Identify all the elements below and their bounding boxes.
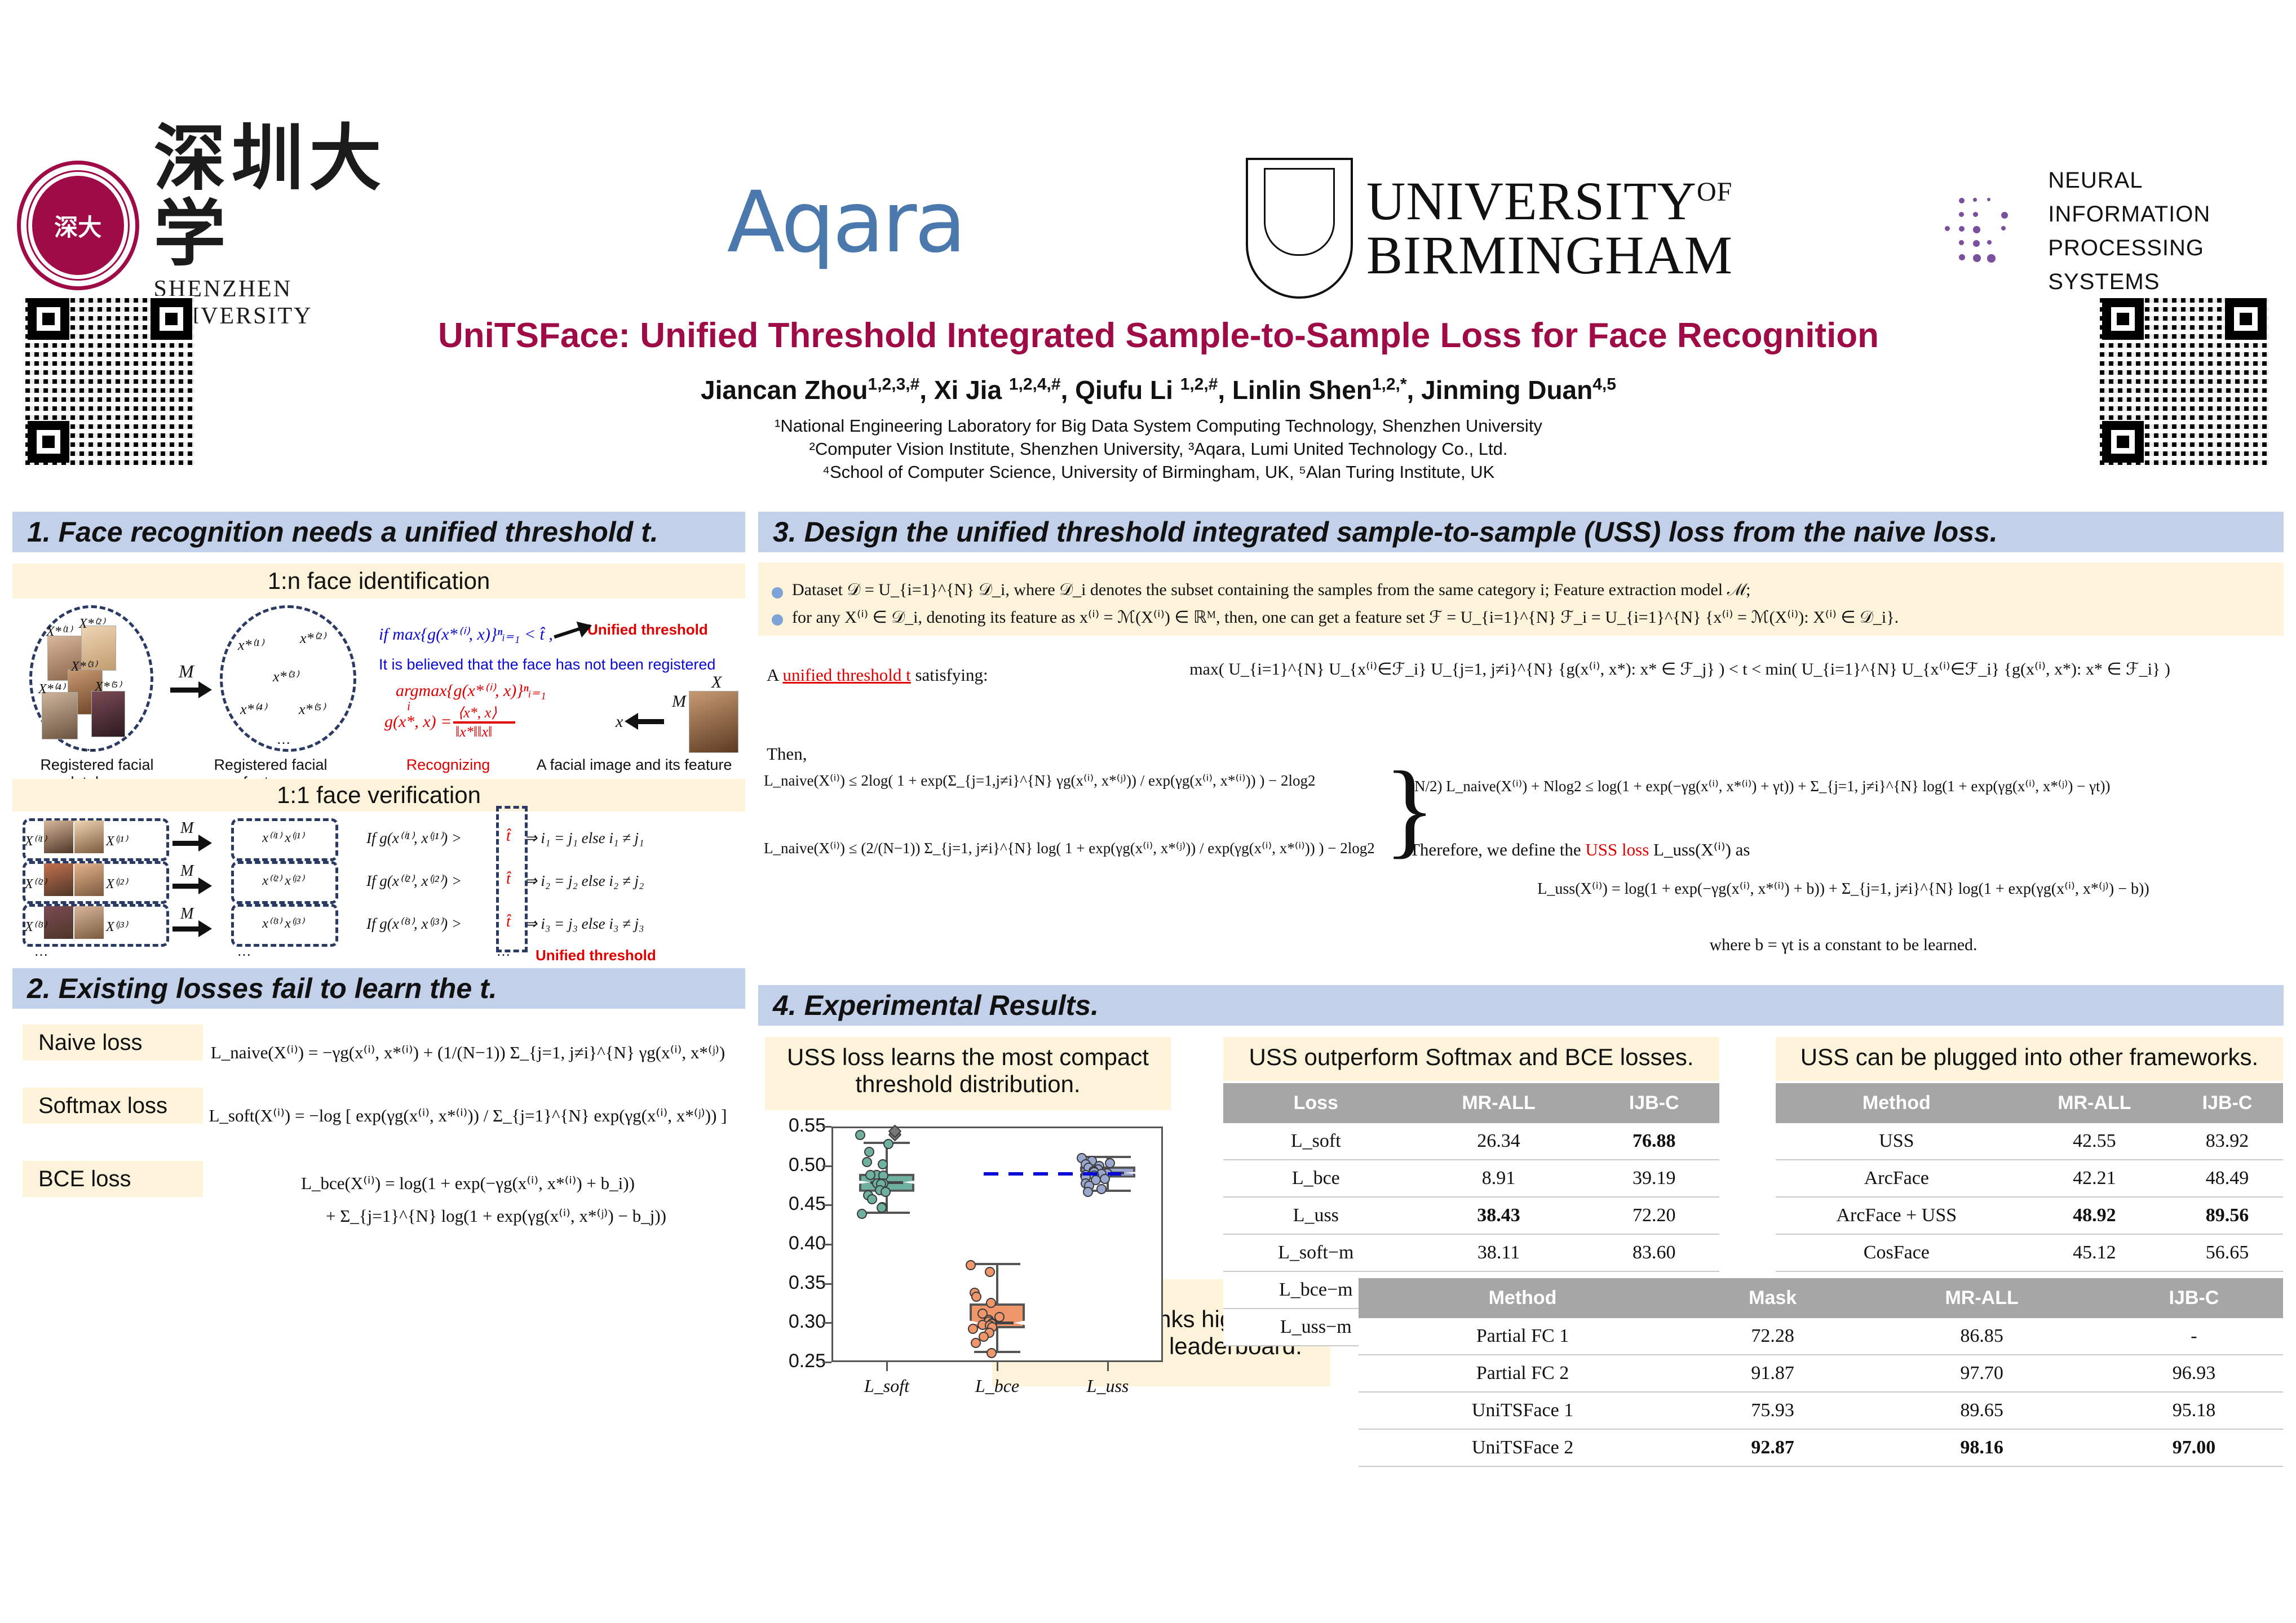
db-ellipsis: … <box>81 737 96 755</box>
table-cell: 26.34 <box>1409 1123 1589 1160</box>
feat-label-3: x*⁽³⁾ <box>273 668 298 685</box>
naive-upper-bound-2: L_naive(X⁽ⁱ⁾) ≤ (2/(N−1)) Σ_{j=1, j≠i}^{… <box>764 840 1384 857</box>
table-row: Partial FC 172.2886.85- <box>1359 1318 2283 1355</box>
arrow-left-icon <box>637 719 664 724</box>
table-cell: 39.19 <box>1589 1160 1719 1197</box>
column-header: MR-ALL <box>2018 1083 2171 1123</box>
results-table-leaderboard: MethodMaskMR-ALLIJB-CPartial FC 172.2886… <box>1359 1278 2283 1467</box>
assumption-bullet-1-text: Dataset 𝒟 = U_{i=1}^{N} 𝒟_i, where 𝒟_i d… <box>792 580 1751 600</box>
column-header: IJB-C <box>2171 1083 2283 1123</box>
data-point <box>1083 1187 1093 1197</box>
author-list: Jiancan Zhou1,2,3,#, Xi Jia 1,2,4,#, Qiu… <box>237 375 2080 405</box>
table-row: CosFace45.1256.65 <box>1776 1234 2283 1271</box>
table-cell: 91.87 <box>1687 1355 1859 1392</box>
face-thumb <box>74 906 104 939</box>
section-1-subtitle-identification: 1:n face identification <box>12 564 745 598</box>
affiliation-line-3: ⁴School of Computer Science, University … <box>237 460 2080 484</box>
verification-rule-suffix: ⇒ i₃ = j₃ else i₃ ≠ j₃ <box>524 915 644 933</box>
affiliations: ¹National Engineering Laboratory for Big… <box>237 414 2080 484</box>
page-title: UniTSFace: Unified Threshold Integrated … <box>237 316 2080 356</box>
naive-loss-formula: L_naive(X⁽ⁱ⁾) = −γg(x⁽ⁱ⁾, x*⁽ⁱ⁾) + (1/(N… <box>203 1043 733 1063</box>
table-cell: Partial FC 1 <box>1359 1318 1687 1355</box>
assumption-bullet-1: Dataset 𝒟 = U_{i=1}^{N} 𝒟_i, where 𝒟_i d… <box>772 580 2270 600</box>
table-cell: L_soft−m <box>1223 1234 1409 1271</box>
threshold-highlight-box <box>496 806 528 952</box>
arrow-right-icon <box>172 884 200 889</box>
arrow-right-icon <box>170 688 200 693</box>
assumption-bullet-2: for any X⁽ⁱ⁾ ∈ 𝒟_i, denoting its feature… <box>772 607 2270 627</box>
table-row: ArcFace + USS48.9289.56 <box>1776 1197 2283 1234</box>
table-header-row: MethodMR-ALLIJB-C <box>1776 1083 2283 1123</box>
verification-pair-label-left: X⁽ⁱ²⁾ <box>25 876 46 892</box>
arrow-right-icon <box>172 926 200 932</box>
db-label-2: X*⁽²⁾ <box>79 615 105 632</box>
neurips-line1: NEURAL INFORMATION <box>2048 163 2289 231</box>
face-thumb <box>42 692 78 739</box>
g-definition-lhs: g(x*, x) = <box>384 712 452 731</box>
table-row: UniTSFace 175.9389.6595.18 <box>1359 1392 2283 1429</box>
arrow-right-icon <box>172 841 200 846</box>
aqara-wordmark: Aqara <box>727 174 965 272</box>
note-table2: USS can be plugged into other frameworks… <box>1776 1037 2283 1081</box>
note-table1: USS outperform Softmax and BCE losses. <box>1223 1037 1719 1081</box>
note-chart: USS loss learns the most compact thresho… <box>765 1037 1171 1110</box>
uob-line2: BIRMINGHAM <box>1366 228 1733 282</box>
table-cell: 89.56 <box>2171 1197 2283 1234</box>
model-symbol: M <box>180 862 193 880</box>
verification-pair-label-right: X⁽ʲ¹⁾ <box>106 833 127 849</box>
x-axis-tick-label: L_soft <box>836 1376 937 1396</box>
model-symbol-1: M <box>179 661 194 682</box>
table-cell: 48.92 <box>2018 1197 2171 1234</box>
db-label-1: X*⁽¹⁾ <box>46 623 72 640</box>
column-header: Mask <box>1687 1278 1859 1318</box>
verification-rule-prefix: If g(x⁽ⁱ¹⁾, x⁽ʲ¹⁾) > <box>366 830 462 847</box>
section-1-subtitle-verification: 1:1 face verification <box>12 779 745 812</box>
table-cell: 48.49 <box>2171 1160 2283 1197</box>
db-label-3: X*⁽³⁾ <box>71 658 97 675</box>
table-cell: 95.18 <box>2105 1392 2283 1429</box>
data-point <box>971 1338 981 1348</box>
table-row: ArcFace42.2148.49 <box>1776 1160 2283 1197</box>
x-axis-tick <box>1107 1362 1109 1371</box>
identification-diagram: X*⁽¹⁾ X*⁽²⁾ X*⁽³⁾ X*⁽⁴⁾ X*⁽⁵⁾ … M x*⁽¹⁾ … <box>12 602 745 754</box>
table-cell: L_bce <box>1223 1160 1409 1197</box>
g-definition-denominator: ‖x*‖‖x‖ <box>455 724 492 740</box>
threshold-lead-c: satisfying: <box>911 665 988 685</box>
bullet-dot-icon <box>772 614 783 626</box>
table-cell: 92.87 <box>1687 1429 1859 1466</box>
table-row: L_uss38.4372.20 <box>1223 1197 1719 1234</box>
face-thumb <box>74 863 104 896</box>
uss-constant-note: where b = γt is a constant to be learned… <box>1398 935 2289 955</box>
y-axis-tick-label: 0.45 <box>758 1193 826 1215</box>
model-symbol: M <box>180 905 193 923</box>
softmax-loss-label: Softmax loss <box>23 1088 203 1124</box>
section-3-assumptions-box: Dataset 𝒟 = U_{i=1}^{N} 𝒟_i, where 𝒟_i d… <box>758 562 2284 636</box>
neurips-line2: PROCESSING SYSTEMS <box>2048 231 2289 299</box>
threshold-lead-highlight: unified threshold t <box>782 665 910 685</box>
table-cell: Partial FC 2 <box>1359 1355 1687 1392</box>
table-cell: USS <box>1776 1123 2018 1160</box>
neurips-dot-pattern-icon <box>1939 166 2038 296</box>
y-axis-tick-label: 0.40 <box>758 1232 826 1254</box>
therefore-a: Therefore, we define the <box>1409 840 1585 859</box>
verif-ellipsis-3: … <box>496 942 511 960</box>
whisker-cap <box>974 1351 1020 1353</box>
annotation-arrow-icon <box>554 627 581 639</box>
uob-crest-icon <box>1246 158 1353 299</box>
data-point <box>867 1194 877 1204</box>
verification-pair-label-right: X⁽ʲ²⁾ <box>106 876 127 892</box>
y-axis-tick-label: 0.55 <box>758 1115 826 1137</box>
argmax-subscript: i <box>407 699 410 713</box>
table-cell: - <box>2105 1318 2283 1355</box>
table-row: L_soft−m38.1183.60 <box>1223 1234 1719 1271</box>
table-cell: 83.92 <box>2171 1123 2283 1160</box>
verif-ellipsis-1: … <box>34 942 48 960</box>
threshold-lead-in: A unified threshold t satisfying: <box>767 665 988 685</box>
therefore-lead-in: Therefore, we define the USS loss L_uss(… <box>1409 840 1750 860</box>
table-cell: 98.16 <box>1859 1429 2105 1466</box>
caption-recognizing: Recognizing <box>378 756 519 774</box>
table-cell: 42.21 <box>2018 1160 2171 1197</box>
table-cell: 72.20 <box>1589 1197 1719 1234</box>
naive-loss-label: Naive loss <box>23 1025 203 1061</box>
if-max-formula: if max{g(x*⁽ⁱ⁾, x)}ⁿᵢ₌₁ < t̂ , <box>379 624 553 644</box>
data-point <box>986 1348 997 1358</box>
combined-inequality: (N/2) L_naive(X⁽ⁱ⁾) + Nlog2 ≤ log(1 + ex… <box>1409 778 2289 795</box>
caption-facial-image: A facial image and its feature <box>524 756 744 774</box>
column-header: Method <box>1776 1083 2018 1123</box>
db-label-4: X*⁽⁴⁾ <box>38 681 65 697</box>
verification-pair-label-left: X⁽ⁱ¹⁾ <box>25 833 46 849</box>
x-feature-symbol: x <box>616 712 623 731</box>
not-registered-note: It is believed that the face has not bee… <box>379 656 715 673</box>
logo-university-of-birmingham: UNIVERSITYOF BIRMINGHAM <box>1246 158 1810 299</box>
data-point <box>855 1130 865 1140</box>
y-axis-tick-label: 0.25 <box>758 1350 826 1372</box>
table-cell: 42.55 <box>2018 1123 2171 1160</box>
table-cell: 89.65 <box>1859 1392 2105 1429</box>
table-row: L_soft26.3476.88 <box>1223 1123 1719 1160</box>
bullet-dot-icon <box>772 587 783 598</box>
bce-loss-formula-line1: L_bce(X⁽ⁱ⁾) = log(1 + exp(−γg(x⁽ⁱ⁾, x*⁽ⁱ… <box>203 1173 733 1194</box>
y-axis-tick-label: 0.35 <box>758 1272 826 1294</box>
table-row: USS42.5583.92 <box>1776 1123 2283 1160</box>
x-axis-tick <box>997 1362 998 1371</box>
verification-feature-label: x⁽ⁱ¹⁾ x⁽ʲ¹⁾ <box>238 830 328 846</box>
feat-label-2: x*⁽²⁾ <box>300 630 325 647</box>
logo-shenzhen-university: 深大 深圳大学 SHENZHEN UNIVERSITY <box>17 152 445 299</box>
reference-line <box>984 1172 1121 1176</box>
table-cell: 83.60 <box>1589 1234 1719 1271</box>
data-point <box>971 1292 981 1302</box>
table-row: UniTSFace 292.8798.1697.00 <box>1359 1429 2283 1466</box>
logo-aqara: Aqara <box>665 169 1026 276</box>
verification-rule-prefix: If g(x⁽ⁱ²⁾, x⁽ʲ²⁾) > <box>366 872 462 890</box>
verif-ellipsis-2: … <box>237 942 251 960</box>
table-cell: 97.70 <box>1859 1355 2105 1392</box>
data-point <box>862 1157 872 1167</box>
table-cell: 96.93 <box>2105 1355 2283 1392</box>
column-header: MR-ALL <box>1859 1278 2105 1318</box>
y-axis-tick <box>822 1362 831 1363</box>
table-cell: 38.11 <box>1409 1234 1589 1271</box>
verification-feature-label: x⁽ⁱ³⁾ x⁽ʲ³⁾ <box>238 915 328 932</box>
feat-label-1: x*⁽¹⁾ <box>238 637 263 654</box>
therefore-c: L_uss(X⁽ⁱ⁾) as <box>1649 840 1750 859</box>
threshold-inequality-formula: max( U_{i=1}^{N} U_{x⁽ⁱ⁾∈ℱ_i} U_{j=1, j≠… <box>1099 659 2260 679</box>
model-symbol-2: M <box>672 692 686 711</box>
argmax-formula: argmax{g(x*⁽ⁱ⁾, x)}ⁿᵢ₌₁ <box>396 681 546 700</box>
table-cell: 45.12 <box>2018 1234 2171 1271</box>
table-cell: ArcFace + USS <box>1776 1197 2018 1234</box>
face-thumb <box>74 821 104 853</box>
poster-root: 深大 深圳大学 SHENZHEN UNIVERSITY Aqara UNIVER… <box>0 0 2296 1623</box>
uob-of: OF <box>1697 177 1732 207</box>
affiliation-line-2: ²Computer Vision Institute, Shenzhen Uni… <box>237 437 2080 460</box>
feat-ellipsis: … <box>276 730 291 748</box>
verification-rule-suffix: ⇒ i₂ = j₂ else i₂ ≠ j₂ <box>524 872 644 890</box>
data-point <box>1105 1158 1115 1168</box>
szu-seal-text: 深大 <box>21 165 135 286</box>
affiliation-line-1: ¹National Engineering Laboratory for Big… <box>237 414 2080 437</box>
db-label-5: X*⁽⁵⁾ <box>95 679 121 695</box>
table-cell: L_soft <box>1223 1123 1409 1160</box>
feat-label-4: x*⁽⁴⁾ <box>240 701 266 718</box>
y-axis-tick-label: 0.30 <box>758 1311 826 1333</box>
table-cell: 76.88 <box>1589 1123 1719 1160</box>
table-cell: 97.00 <box>2105 1429 2283 1466</box>
feat-label-5: x*⁽⁵⁾ <box>299 701 325 718</box>
x-axis-tick <box>886 1362 888 1371</box>
table-cell: CosFace <box>1776 1234 2018 1271</box>
naive-upper-bound-1: L_naive(X⁽ⁱ⁾) ≤ 2log( 1 + exp(Σ_{j=1,j≠i… <box>764 772 1384 790</box>
data-point <box>881 1187 891 1197</box>
table-cell: 75.93 <box>1687 1392 1859 1429</box>
szu-seal-icon: 深大 <box>17 161 139 290</box>
table-cell: L_uss <box>1223 1197 1409 1234</box>
table-cell: 72.28 <box>1687 1318 1859 1355</box>
section-3-header: 3. Design the unified threshold integrat… <box>758 512 2284 552</box>
then-label: Then, <box>767 744 807 764</box>
therefore-uss-highlight: USS loss <box>1585 840 1649 859</box>
data-point <box>1096 1184 1107 1194</box>
y-axis-tick <box>822 1165 831 1167</box>
face-thumb <box>44 906 73 939</box>
table-header-row: LossMR-ALLIJB-C <box>1223 1083 1719 1123</box>
model-symbol: M <box>180 819 193 837</box>
table-cell: 8.91 <box>1409 1160 1589 1197</box>
face-thumb <box>91 691 125 737</box>
x-axis-tick-label: L_bce <box>946 1376 1048 1396</box>
table-cell: ArcFace <box>1776 1160 2018 1197</box>
verification-pair-label-right: X⁽ʲ³⁾ <box>106 919 127 935</box>
column-header: IJB-C <box>2105 1278 2283 1318</box>
section-1-header: 1. Face recognition needs a unified thre… <box>12 512 745 552</box>
y-axis-tick-label: 0.50 <box>758 1154 826 1176</box>
qr-code-left[interactable] <box>25 296 194 465</box>
X-image-symbol: X <box>711 673 722 692</box>
section-4-header: 4. Experimental Results. <box>758 985 2284 1026</box>
whisker-cap <box>864 1212 910 1214</box>
data-point <box>986 1298 996 1308</box>
y-axis-tick <box>822 1126 831 1128</box>
table-cell: 38.43 <box>1409 1197 1589 1234</box>
query-face-thumb <box>689 691 738 753</box>
data-point <box>968 1324 978 1334</box>
x-axis-tick-label: L_uss <box>1057 1376 1158 1396</box>
column-header: IJB-C <box>1589 1083 1719 1123</box>
assumption-bullet-2-text: for any X⁽ⁱ⁾ ∈ 𝒟_i, denoting its feature… <box>792 607 1899 627</box>
softmax-loss-formula: L_soft(X⁽ⁱ⁾) = −log [ exp(γg(x⁽ⁱ⁾, x*⁽ⁱ⁾… <box>203 1106 733 1126</box>
logo-neurips: NEURAL INFORMATION PROCESSING SYSTEMS <box>1939 161 2289 301</box>
section-2-header: 2. Existing losses fail to learn the t. <box>12 968 745 1009</box>
verification-pair-label-left: X⁽ⁱ³⁾ <box>25 919 46 935</box>
table-cell: UniTSFace 2 <box>1359 1429 1687 1466</box>
table-cell: UniTSFace 1 <box>1359 1392 1687 1429</box>
qr-code-right[interactable] <box>2100 296 2269 465</box>
data-point <box>865 1170 875 1180</box>
results-table-frameworks: MethodMR-ALLIJB-CUSS42.5583.92ArcFace42.… <box>1776 1083 2283 1309</box>
table-row: L_bce8.9139.19 <box>1223 1160 1719 1197</box>
table-cell: 56.65 <box>2171 1234 2283 1271</box>
unified-threshold-annotation-2: Unified threshold <box>536 947 656 964</box>
bce-loss-formula-line2: + Σ_{j=1}^{N} log(1 + exp(γg(x⁽ⁱ⁾, x*⁽ʲ⁾… <box>259 1206 733 1226</box>
uss-loss-formula: L_uss(X⁽ⁱ⁾) = log(1 + exp(−γg(x⁽ⁱ⁾, x*⁽ⁱ… <box>1398 879 2289 898</box>
g-definition-numerator: ⟨x*, x⟩ <box>458 704 497 721</box>
verification-feature-label: x⁽ⁱ²⁾ x⁽ʲ²⁾ <box>238 872 328 889</box>
y-axis-tick <box>822 1204 831 1206</box>
table-cell: 86.85 <box>1859 1318 2105 1355</box>
unified-threshold-annotation: Unified threshold <box>587 621 708 638</box>
table-row: Partial FC 291.8797.7096.93 <box>1359 1355 2283 1392</box>
whisker-cap <box>974 1263 1020 1265</box>
table-header-row: MethodMaskMR-ALLIJB-C <box>1359 1278 2283 1318</box>
szu-chinese-name: 深圳大学 <box>154 121 446 273</box>
threshold-distribution-boxplot: 0.250.300.350.400.450.500.55L_softL_bceL… <box>765 1119 1171 1406</box>
y-axis-tick <box>822 1322 831 1324</box>
y-axis-tick <box>822 1283 831 1285</box>
column-header: Loss <box>1223 1083 1409 1123</box>
verification-rule-suffix: ⇒ i₁ = j₁ else i₁ ≠ j₁ <box>524 830 644 847</box>
uob-line1: UNIVERSITY <box>1366 171 1697 231</box>
column-header: Method <box>1359 1278 1687 1318</box>
y-axis-tick <box>822 1244 831 1245</box>
threshold-lead-a: A <box>767 665 782 685</box>
bce-loss-label: BCE loss <box>23 1161 203 1197</box>
face-thumb <box>44 821 73 853</box>
column-header: MR-ALL <box>1409 1083 1589 1123</box>
verification-rule-prefix: If g(x⁽ⁱ³⁾, x⁽ʲ³⁾) > <box>366 915 462 933</box>
face-thumb <box>44 863 73 896</box>
